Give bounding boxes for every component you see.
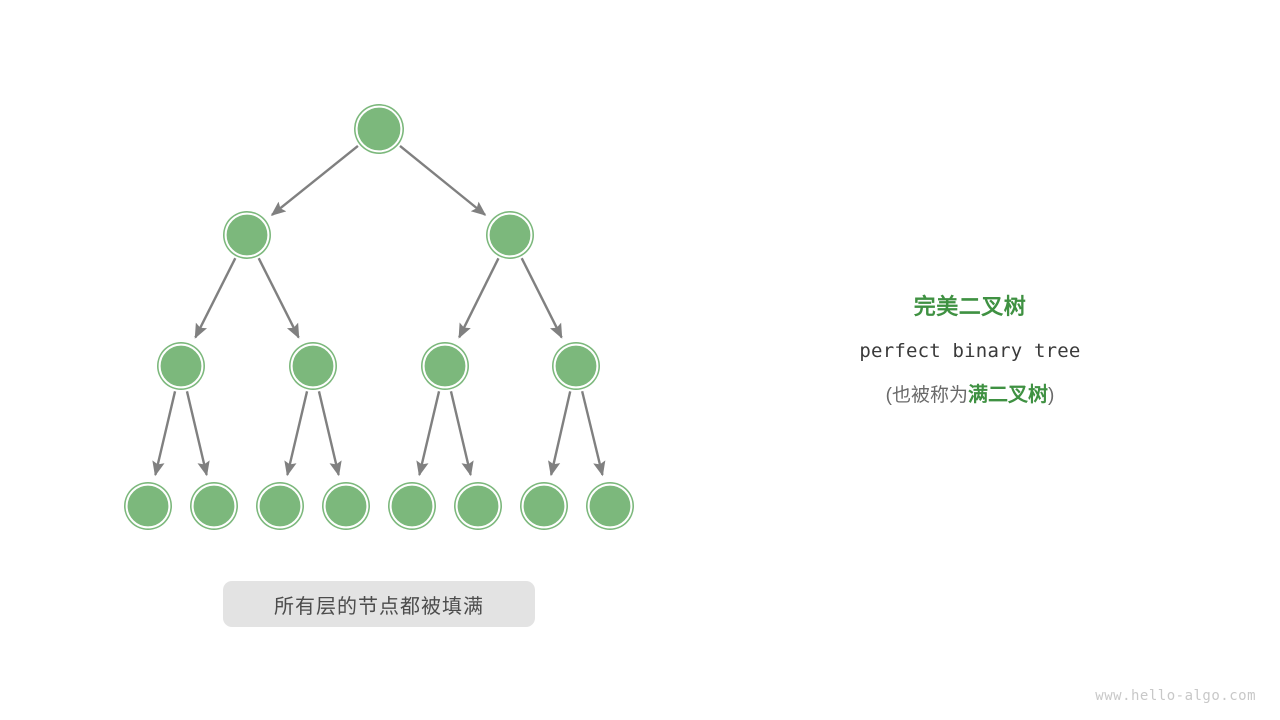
node-core — [392, 486, 432, 526]
legend-block: 完美二叉树 perfect binary tree (也被称为满二叉树) — [820, 292, 1120, 411]
tree-node-layer — [124, 104, 634, 530]
tree-node — [223, 211, 271, 259]
tree-edge — [582, 391, 602, 475]
node-core — [556, 346, 596, 386]
tree-edge — [400, 146, 485, 215]
caption-pill: 所有层的节点都被填满 — [223, 581, 535, 627]
tree-edge-layer — [155, 146, 602, 475]
legend-subtitle: perfect binary tree — [820, 336, 1120, 366]
node-core — [358, 108, 400, 150]
tree-node — [124, 482, 172, 530]
tree-edge — [451, 391, 471, 475]
tree-edge — [522, 258, 562, 337]
tree-node — [486, 211, 534, 259]
node-core — [524, 486, 564, 526]
tree-node — [322, 482, 370, 530]
tree-edge — [459, 258, 498, 337]
legend-title: 完美二叉树 — [820, 292, 1120, 322]
tree-edge — [259, 258, 299, 337]
node-core — [590, 486, 630, 526]
tree-node — [520, 482, 568, 530]
tree-node — [190, 482, 238, 530]
node-core — [293, 346, 333, 386]
tree-node — [586, 482, 634, 530]
tree-edge — [195, 258, 235, 337]
node-core — [128, 486, 168, 526]
node-core — [161, 346, 201, 386]
tree-edge — [419, 391, 439, 475]
legend-alt-prefix: (也被称为 — [886, 385, 968, 406]
node-core — [425, 346, 465, 386]
node-core — [227, 215, 267, 255]
legend-alt-suffix: ) — [1048, 385, 1054, 406]
node-core — [458, 486, 498, 526]
tree-node — [354, 104, 404, 154]
node-core — [490, 215, 530, 255]
tree-edge — [272, 146, 358, 215]
legend-alt-name: (也被称为满二叉树) — [820, 380, 1120, 411]
watermark: www.hello-algo.com — [1095, 688, 1256, 704]
tree-edge — [287, 391, 307, 475]
tree-edge — [155, 391, 175, 475]
caption-text: 所有层的节点都被填满 — [274, 590, 484, 619]
tree-node — [454, 482, 502, 530]
tree-edge — [551, 391, 570, 474]
tree-node — [289, 342, 337, 390]
tree-edge — [319, 391, 339, 475]
tree-node — [421, 342, 469, 390]
tree-edge — [187, 391, 207, 475]
node-core — [194, 486, 234, 526]
legend-alt-highlight: 满二叉树 — [968, 384, 1048, 406]
tree-node — [552, 342, 600, 390]
tree-node — [256, 482, 304, 530]
node-core — [326, 486, 366, 526]
tree-node — [388, 482, 436, 530]
node-core — [260, 486, 300, 526]
tree-node — [157, 342, 205, 390]
